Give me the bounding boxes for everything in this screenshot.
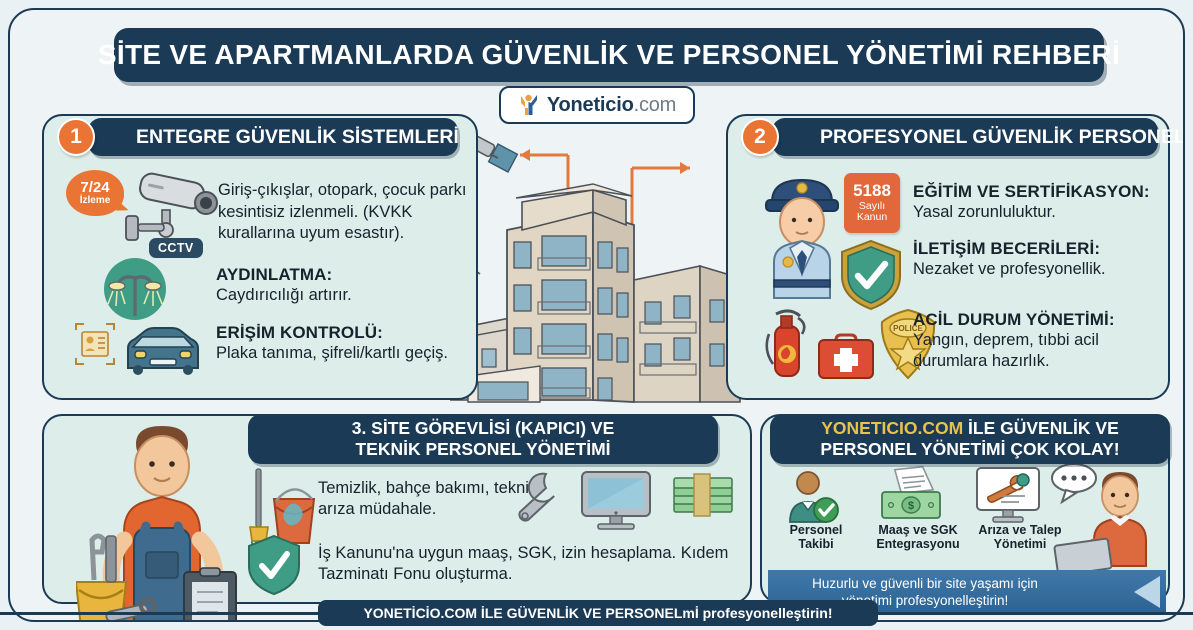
promo-label-3-line2: Yönetimi [972,537,1068,551]
section-3-heading-line2: TEKNİK PERSONEL YÖNETİMİ [355,439,610,460]
section-1-number-badge: 1 [57,118,95,156]
promo-feature-labels: Personel Takibi Maaş ve SGK Entegrasyonu… [768,523,1068,551]
section-4-heading-line2: PERSONEL YÖNETİMİ ÇOK KOLAY! [820,439,1119,460]
page-title-text: SİTE VE APARTMANLARDA GÜVENLİK VE PERSON… [98,39,1120,71]
promo-label-3-line1: Arıza ve Talep [972,523,1068,537]
street-lamp-icon [98,258,172,320]
promo-banner-line1: Huzurlu ve güvenli bir site yaşamı için [812,576,1080,591]
banner-arrow-icon [1134,576,1160,608]
cash-stack-icon [670,472,738,526]
fire-extinguisher-icon [762,306,812,380]
outer-frame: SİTE VE APARTMANLARDA GÜVENLİK VE PERSON… [8,8,1185,622]
shield-check-icon-2 [246,534,302,596]
shield-check-icon [838,238,904,312]
section-2-number: 2 [754,125,766,149]
ribbon-line-right [876,612,1193,615]
section-1-item-1-text: Caydırıcılığı artırır. [216,285,446,306]
section-2-item-3: ACİL DURUM YÖNETİMİ: Yangın, deprem, tıb… [913,310,1163,372]
promo-label-2-line1: Maaş ve SGK [870,523,966,537]
section-1-number: 1 [70,125,82,149]
section-2-item-3-text: Yangın, deprem, tıbbi acil durumlara haz… [913,330,1163,372]
section-2-item-1-title: EĞİTİM VE SERTİFİKASYON: [913,182,1173,202]
section-1-header: ENTEGRE GÜVENLİK SİSTEMLERİ [88,118,458,156]
section-2-item-1: EĞİTİM VE SERTİFİKASYON: Yasal zorunlulu… [913,182,1173,223]
infographic-canvas: SİTE VE APARTMANLARDA GÜVENLİK VE PERSON… [0,0,1193,630]
logo-name: Yoneticio [547,94,634,116]
law-line3: Kanun [857,212,887,223]
section-1-item-2-text: Plaka tanıma, şifreli/kartlı geçiş. [216,343,461,364]
section-3-header: 3. SİTE GÖREVLİSİ (KAPICI) VE TEKNİK PER… [248,414,718,464]
janitor-worker-icon [76,422,262,622]
promo-label-2: Maaş ve SGK Entegrasyonu [870,523,966,551]
svg-text:$: $ [908,500,914,512]
section-1-item-1: AYDINLATMA: Caydırıcılığı artırır. [216,265,446,306]
promo-label-1-line1: Personel [768,523,864,537]
section-4-heading-line1: YONETICIO.COM İLE GÜVENLİK VE [821,418,1119,439]
section-2-item-3-title: ACİL DURUM YÖNETİMİ: [913,310,1163,330]
section-2-item-2-title: İLETİŞİM BECERİLERİ: [913,239,1173,259]
section-2-header: PROFESYONEL GÜVENLİK PERSONELİ [772,118,1158,156]
first-aid-kit-icon [816,332,876,380]
section-2-item-2-text: Nezaket ve profesyonellik. [913,259,1173,280]
promo-label-3: Arıza ve Talep Yönetimi [972,523,1068,551]
ribbon-line-left [0,612,320,615]
badge-724-bottom: İzleme [80,196,111,207]
law-5188-badge: 5188 Sayılı Kanun [844,173,900,233]
footer-ribbon-text: YONETİCİO.COM İLE GÜVENLİK VE PERSONELmİ… [363,605,832,621]
car-plate-icon [72,320,204,382]
page-title: SİTE VE APARTMANLARDA GÜVENLİK VE PERSON… [114,28,1104,82]
section-1-heading: ENTEGRE GÜVENLİK SİSTEMLERİ [136,126,459,149]
section-3-paragraph-2: İş Kanunu'na uygun maaş, SGK, izin hesap… [318,543,738,585]
section-2-number-badge: 2 [741,118,779,156]
monitor-icon [580,470,652,530]
section-4-brand: YONETICIO.COM [821,418,963,438]
section-1-paragraph: Giriş-çıkışlar, otopark, çocuk parkı kes… [218,180,474,245]
footer-ribbon: YONETİCİO.COM İLE GÜVENLİK VE PERSONELmİ… [318,600,878,626]
promo-label-2-line2: Entegrasyonu [870,537,966,551]
monitor-wrench-icon [975,466,1041,524]
section-4-heading-rest: İLE GÜVENLİK VE [963,418,1119,438]
law-number: 5188 [853,182,891,200]
section-4-header: YONETICIO.COM İLE GÜVENLİK VE PERSONEL Y… [770,414,1170,464]
section-3-heading-line1: 3. SİTE GÖREVLİSİ (KAPICI) VE [352,418,615,439]
section-2-item-1-text: Yasal zorunluluktur. [913,202,1173,223]
person-logo-icon [518,93,540,117]
brand-logo[interactable]: Yoneticio.com [499,86,695,124]
logo-wordmark: Yoneticio.com [547,94,676,117]
section-2-heading: PROFESYONEL GÜVENLİK PERSONELİ [820,126,1185,149]
badge-724-top: 7/24 [80,180,109,196]
section-1-item-2-title: ERİŞİM KONTROLÜ: [216,323,461,343]
wrench-icon [516,470,564,526]
money-document-icon: $ [878,466,944,524]
section-1-item-1-title: AYDINLATMA: [216,265,446,285]
section-1-item-2: ERİŞİM KONTROLÜ: Plaka tanıma, şifreli/k… [216,323,461,364]
logo-suffix: .com [634,94,677,116]
section-2-item-2: İLETİŞİM BECERİLERİ: Nezaket ve profesyo… [913,239,1173,280]
promo-label-1-line2: Takibi [768,537,864,551]
promo-label-1: Personel Takibi [768,523,864,551]
badge-724-monitoring: 7/24 İzleme [66,170,124,216]
user-check-icon [782,468,842,524]
cctv-tag: CCTV [149,238,203,258]
support-agent-icon [1050,462,1166,574]
